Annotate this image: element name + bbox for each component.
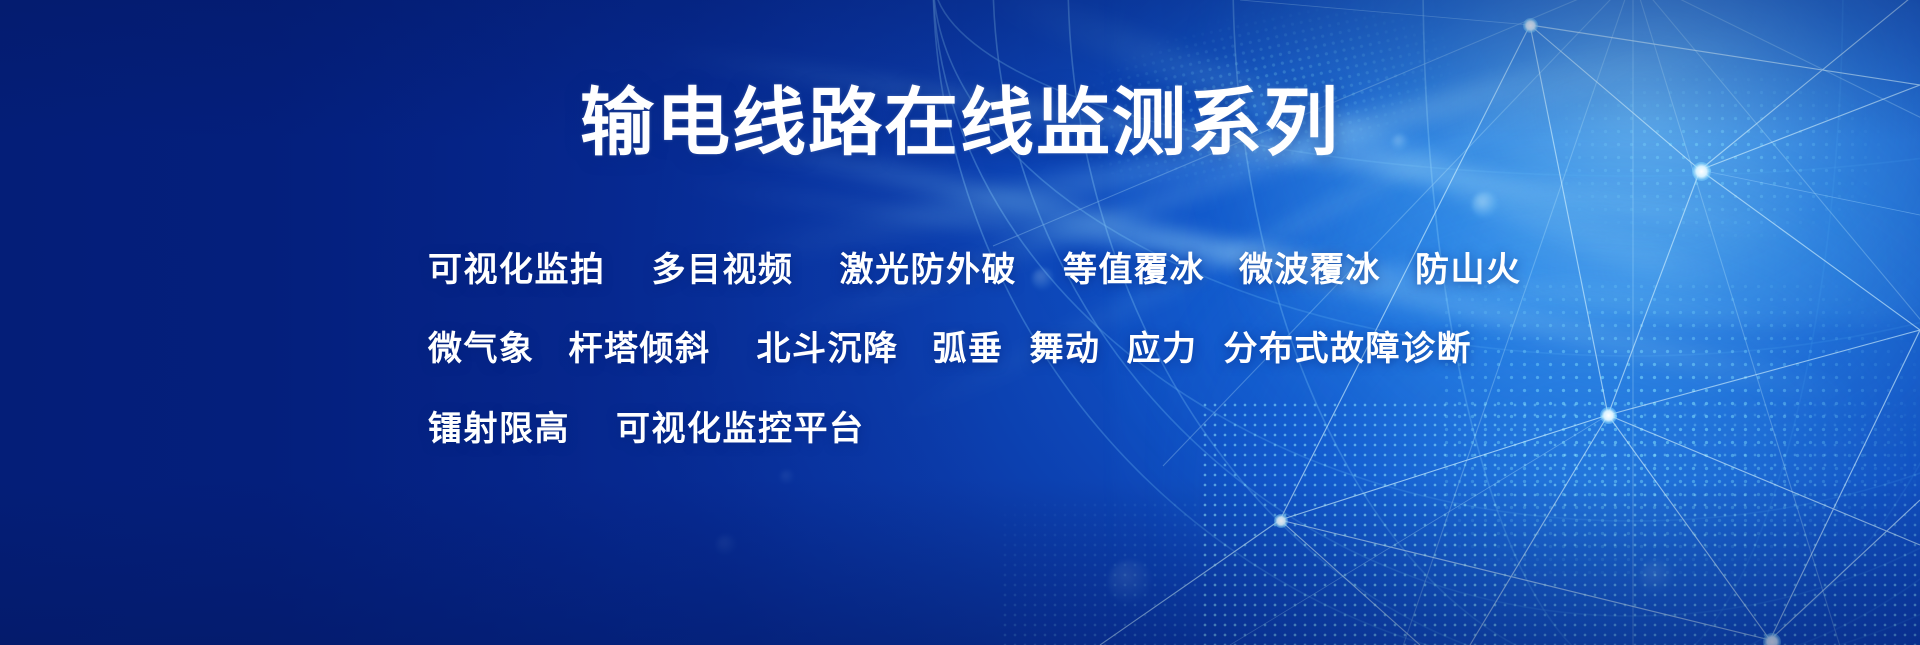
page-title: 输电线路在线监测系列: [0, 86, 1920, 160]
tagline-item: 分布式故障诊断: [1224, 331, 1473, 368]
tagline-item: 防山火: [1415, 252, 1522, 289]
tagline-item: 多目视频: [652, 252, 794, 289]
tagline-item: 应力: [1127, 331, 1198, 368]
tagline-row: 可视化监拍 多目视频 激光防外破 等值覆冰 微波覆冰 防山火: [428, 252, 1522, 289]
tagline-item: 激光防外破: [840, 252, 1018, 289]
tagline-item: 微波覆冰: [1239, 252, 1381, 289]
tagline-item: 镭射限高: [428, 411, 570, 448]
hero-banner: 输电线路在线监测系列 可视化监拍 多目视频 激光防外破 等值覆冰 微波覆冰 防山…: [0, 0, 1920, 645]
tagline-item: 杆塔倾斜: [569, 331, 711, 368]
tagline-item: 可视化监控平台: [616, 411, 865, 448]
tagline-item: 舞动: [1030, 331, 1101, 368]
tagline-item: 北斗沉降: [757, 331, 899, 368]
tagline-row: 镭射限高 可视化监控平台: [428, 411, 1522, 448]
tagline-list: 可视化监拍 多目视频 激光防外破 等值覆冰 微波覆冰 防山火 微气象 杆塔倾斜 …: [428, 252, 1522, 448]
tagline-item: 等值覆冰: [1063, 252, 1205, 289]
tagline-item: 微气象: [428, 331, 535, 368]
tagline-row: 微气象 杆塔倾斜 北斗沉降 弧垂 舞动 应力 分布式故障诊断: [428, 331, 1522, 368]
tagline-item: 弧垂: [933, 331, 1004, 368]
tagline-item: 可视化监拍: [428, 252, 606, 289]
